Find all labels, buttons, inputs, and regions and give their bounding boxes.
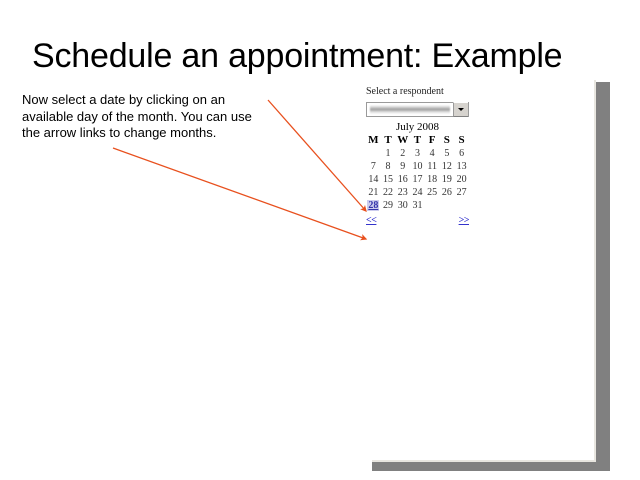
calendar-day-cell: 15 [381,173,396,186]
calendar-day-cell: 31 [410,199,425,212]
calendar-day-link-selected[interactable]: 28 [367,200,379,211]
previous-month-link[interactable]: << [366,215,376,226]
calendar-day-cell: 1 [381,147,396,160]
calendar-day-header: T [381,134,396,147]
calendar-day-cell: 20 [454,173,469,186]
calendar-day-cell: 8 [381,160,396,173]
slide-title: Schedule an appointment: Example [32,36,612,76]
calendar-day-cell: 27 [454,186,469,199]
calendar-day-cell: 19 [440,173,455,186]
calendar-day-cell: 12 [440,160,455,173]
calendar-day-header: S [440,134,455,147]
calendar-day-cell: 3 [410,147,425,160]
calendar-day-cell: 30 [395,199,410,212]
calendar-day-cell: 29 [381,199,396,212]
calendar-day-cell [425,199,440,212]
calendar-widget: Select a respondent July 2008 M T W T F … [366,86,476,226]
calendar-day-cell: 22 [381,186,396,199]
calendar-day-cell-selected[interactable]: 28 [366,199,381,212]
calendar-day-cell [440,199,455,212]
calendar-day-cell: 23 [395,186,410,199]
respondent-select[interactable] [366,102,469,117]
calendar-day-cell: 10 [410,160,425,173]
calendar-week-row: 21 22 23 24 25 26 27 [366,186,469,199]
calendar-month-title: July 2008 [366,120,469,134]
calendar-day-cell: 5 [440,147,455,160]
calendar-week-row: 28 29 30 31 [366,199,469,212]
calendar-day-header: W [395,134,410,147]
calendar-day-header-row: M T W T F S S [366,134,469,147]
calendar-day-header: F [425,134,440,147]
calendar-day-cell: 16 [395,173,410,186]
calendar-day-cell: 7 [366,160,381,173]
calendar-week-row: 14 15 16 17 18 19 20 [366,173,469,186]
calendar-week-row: 7 8 9 10 11 12 13 [366,160,469,173]
calendar-day-header: S [454,134,469,147]
calendar-day-header: M [366,134,381,147]
calendar-day-cell: 18 [425,173,440,186]
respondent-select-value [370,105,450,114]
chevron-down-icon[interactable] [453,102,468,117]
annotation-arrow-to-selected-day [268,100,366,211]
calendar-week-row: 1 2 3 4 5 6 [366,147,469,160]
respondent-label: Select a respondent [366,86,476,98]
calendar-day-cell: 6 [454,147,469,160]
calendar-day-header: T [410,134,425,147]
calendar-day-cell: 17 [410,173,425,186]
calendar-day-cell: 21 [366,186,381,199]
calendar-day-cell: 13 [454,160,469,173]
calendar-day-cell: 26 [440,186,455,199]
next-month-link[interactable]: >> [459,215,469,226]
calendar-day-cell: 25 [425,186,440,199]
calendar-day-cell: 14 [366,173,381,186]
annotation-arrow-to-month-links [113,148,366,239]
slide-shadow-bottom [372,462,610,471]
calendar-day-cell: 9 [395,160,410,173]
presentation-slide: Schedule an appointment: Example Now sel… [0,0,640,480]
calendar-day-cell: 11 [425,160,440,173]
instruction-text: Now select a date by clicking on an avai… [22,92,272,142]
calendar-grid: M T W T F S S 1 2 3 4 5 6 [366,134,469,212]
calendar-day-cell [454,199,469,212]
calendar-day-cell: 2 [395,147,410,160]
calendar-day-cell: 24 [410,186,425,199]
calendar-day-cell: 4 [425,147,440,160]
slide-shadow-right [596,82,610,463]
calendar-navigation: << >> [366,215,469,226]
calendar-day-cell [366,147,381,160]
